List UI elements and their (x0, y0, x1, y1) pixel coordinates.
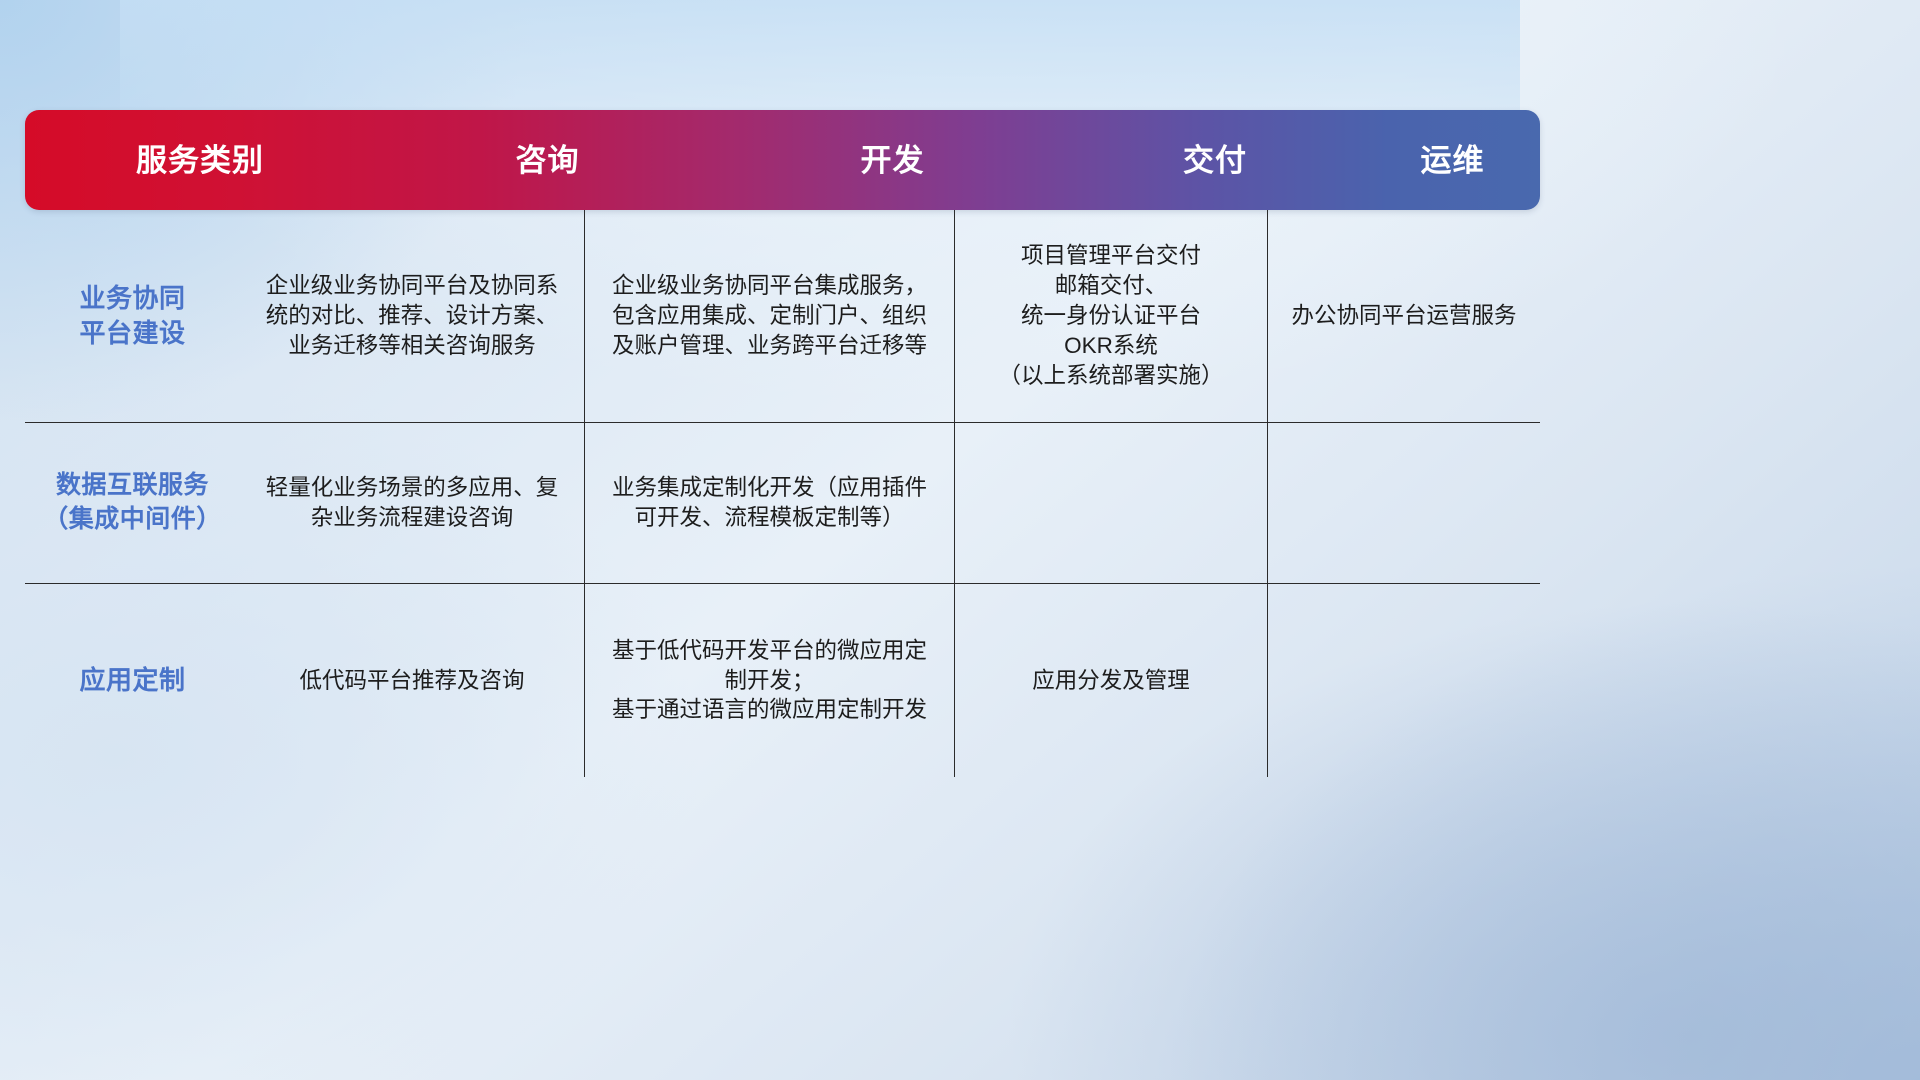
column-header-operations: 运维 (1365, 145, 1540, 176)
cell-consulting: 轻量化业务场景的多应用、复 杂业务流程建设咨询 (240, 423, 585, 583)
slide-canvas: 服务类别 咨询 开发 交付 运维 业务协同 平台建设 企业级业务协同平台及协同系… (0, 0, 1920, 1080)
cell-consulting: 低代码平台推荐及咨询 (240, 584, 585, 777)
table-body: 业务协同 平台建设 企业级业务协同平台及协同系 统的对比、推荐、设计方案、 业务… (25, 210, 1540, 775)
table-row: 业务协同 平台建设 企业级业务协同平台及协同系 统的对比、推荐、设计方案、 业务… (25, 210, 1540, 422)
column-header-delivery: 交付 (1065, 145, 1365, 176)
cell-development: 业务集成定制化开发（应用插件 可开发、流程模板定制等） (585, 423, 955, 583)
row-category-label: 应用定制 (25, 584, 240, 777)
column-header-service-category: 服务类别 (25, 145, 375, 176)
cell-delivery: 应用分发及管理 (955, 584, 1268, 777)
table-row: 数据互联服务 （集成中间件） 轻量化业务场景的多应用、复 杂业务流程建设咨询 业… (25, 422, 1540, 583)
column-header-consulting: 咨询 (375, 145, 720, 176)
cell-operations (1268, 423, 1540, 583)
table-row: 应用定制 低代码平台推荐及咨询 基于低代码开发平台的微应用定 制开发； 基于通过… (25, 583, 1540, 777)
row-category-label: 业务协同 平台建设 (25, 210, 240, 422)
cell-operations: 办公协同平台运营服务 (1268, 210, 1540, 422)
category-text: 应用定制 (79, 663, 185, 698)
row-category-label: 数据互联服务 （集成中间件） (25, 423, 240, 583)
column-header-development: 开发 (720, 145, 1065, 176)
table-header-row: 服务类别 咨询 开发 交付 运维 (25, 110, 1540, 210)
cell-delivery: 项目管理平台交付 邮箱交付、 统一身份认证平台 OKR系统 （以上系统部署实施） (955, 210, 1268, 422)
service-matrix-table: 服务类别 咨询 开发 交付 运维 业务协同 平台建设 企业级业务协同平台及协同系… (25, 110, 1540, 775)
cell-delivery (955, 423, 1268, 583)
category-text: 数据互联服务 （集成中间件） (43, 469, 222, 537)
category-text: 业务协同 平台建设 (79, 281, 185, 351)
cell-development: 企业级业务协同平台集成服务， 包含应用集成、定制门户、组织 及账户管理、业务跨平… (585, 210, 955, 422)
cell-operations (1268, 584, 1540, 777)
cell-consulting: 企业级业务协同平台及协同系 统的对比、推荐、设计方案、 业务迁移等相关咨询服务 (240, 210, 585, 422)
cell-development: 基于低代码开发平台的微应用定 制开发； 基于通过语言的微应用定制开发 (585, 584, 955, 777)
